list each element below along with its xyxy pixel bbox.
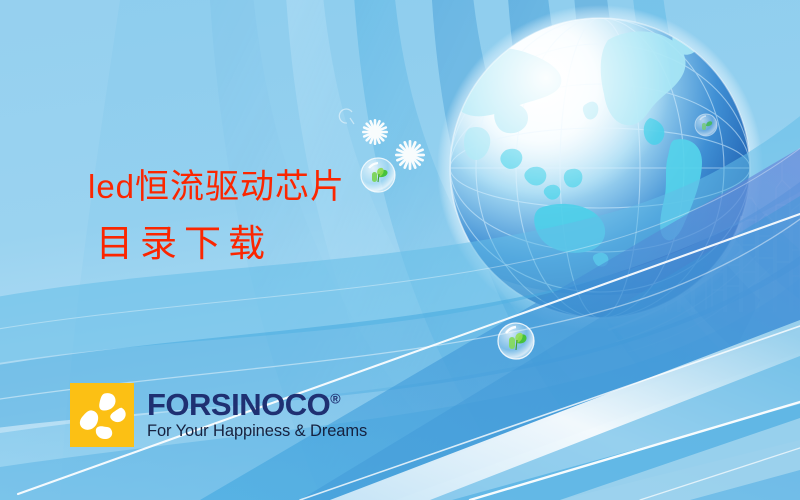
- headline-line-1-cjk: 恒流驱动芯片: [135, 169, 345, 206]
- logo-wordmark-group: FORSINOCO® For Your Happiness & Dreams: [147, 389, 367, 440]
- swirl-accent: [339, 109, 354, 124]
- skyline-light-streaks: [608, 250, 770, 352]
- logo-wordmark: FORSINOCO®: [147, 389, 340, 420]
- logo-tagline: For Your Happiness & Dreams: [147, 422, 367, 440]
- bubble-with-sprout: [361, 114, 717, 359]
- headline-line-1-latin: led: [88, 168, 135, 205]
- logo-wordmark-text: FORSINOCO: [147, 387, 330, 422]
- headline-block: led恒流驱动芯片 目录下载: [88, 165, 345, 270]
- city-skyline-silhouette: [666, 160, 800, 312]
- hero-banner: led恒流驱动芯片 目录下载 FORSINOCO® For Your Happi…: [0, 0, 800, 500]
- brand-logo[interactable]: FORSINOCO® For Your Happiness & Dreams: [70, 383, 367, 447]
- headline-line-1: led恒流驱动芯片: [88, 165, 345, 211]
- headline-line-2: 目录下载: [96, 221, 345, 270]
- globe-graphic: [437, 5, 763, 331]
- pinwheel-flower-icon: [70, 383, 134, 447]
- sparkle-starburst: [362, 119, 425, 170]
- registered-trademark-icon: ®: [330, 391, 340, 407]
